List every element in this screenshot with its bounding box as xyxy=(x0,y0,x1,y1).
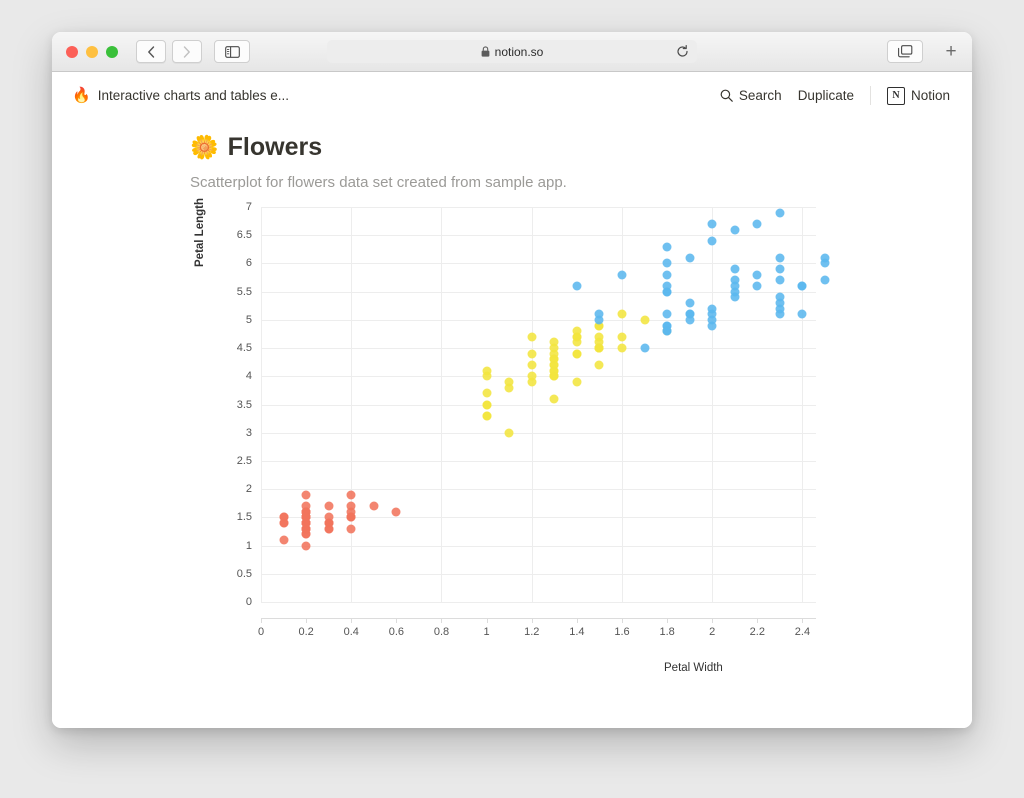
scatter-point[interactable] xyxy=(550,355,559,364)
scatter-point[interactable] xyxy=(482,389,491,398)
window-controls xyxy=(66,46,118,58)
scatter-point[interactable] xyxy=(775,265,784,274)
scatter-point[interactable] xyxy=(279,519,288,528)
x-axis-tick xyxy=(261,618,262,623)
x-axis-tick xyxy=(577,618,578,623)
gridline-horizontal xyxy=(261,489,816,490)
scatter-point[interactable] xyxy=(572,327,581,336)
x-axis-tick-label: 0.2 xyxy=(298,626,313,638)
gridline-horizontal xyxy=(261,348,816,349)
scatter-point[interactable] xyxy=(505,383,514,392)
scatter-point[interactable] xyxy=(753,270,762,279)
scatter-point[interactable] xyxy=(775,293,784,302)
gridline-horizontal xyxy=(261,461,816,462)
scatter-point[interactable] xyxy=(550,394,559,403)
gridline-vertical xyxy=(261,207,262,602)
scatter-point[interactable] xyxy=(775,304,784,313)
y-axis-tick-label: 2 xyxy=(212,483,252,495)
scatterplot-chart: Petal Length 00.20.40.60.811.21.41.61.82… xyxy=(190,207,830,677)
scatter-point[interactable] xyxy=(708,219,717,228)
back-button[interactable] xyxy=(136,40,166,63)
scatter-point[interactable] xyxy=(798,282,807,291)
x-axis-title: Petal Width xyxy=(664,662,723,674)
y-axis-tick-label: 2.5 xyxy=(212,455,252,467)
y-axis-tick-label: 0.5 xyxy=(212,568,252,580)
scatter-point[interactable] xyxy=(302,519,311,528)
scatter-point[interactable] xyxy=(708,321,717,330)
scatter-point[interactable] xyxy=(324,502,333,511)
plot-area xyxy=(261,207,816,602)
gridline-horizontal xyxy=(261,320,816,321)
scatter-point[interactable] xyxy=(595,332,604,341)
scatter-point[interactable] xyxy=(279,535,288,544)
scatter-point[interactable] xyxy=(753,282,762,291)
gridline-vertical xyxy=(802,207,803,602)
scatter-point[interactable] xyxy=(663,270,672,279)
lock-icon xyxy=(481,46,490,57)
scatter-point[interactable] xyxy=(572,338,581,347)
x-axis-tick-label: 1.6 xyxy=(614,626,629,638)
chevron-left-icon xyxy=(147,46,155,58)
page-content: 🌼 Flowers Scatterplot for flowers data s… xyxy=(52,133,972,677)
maximize-window-button[interactable] xyxy=(106,46,118,58)
search-icon xyxy=(720,89,733,102)
scatter-point[interactable] xyxy=(302,490,311,499)
scatter-point[interactable] xyxy=(347,490,356,499)
minimize-window-button[interactable] xyxy=(86,46,98,58)
gridline-vertical xyxy=(441,207,442,602)
page-emoji-icon: 🔥 xyxy=(72,88,91,103)
scatter-point[interactable] xyxy=(775,276,784,285)
scatter-point[interactable] xyxy=(708,304,717,313)
y-axis-tick-label: 3 xyxy=(212,427,252,439)
gridline-vertical xyxy=(351,207,352,602)
y-axis-tick-label: 5 xyxy=(212,314,252,326)
y-axis-title: Petal Length xyxy=(194,198,206,267)
y-axis-tick-label: 1.5 xyxy=(212,511,252,523)
scatter-point[interactable] xyxy=(708,236,717,245)
x-axis-tick xyxy=(802,618,803,623)
x-axis-tick-label: 0 xyxy=(258,626,264,638)
scatter-point[interactable] xyxy=(347,513,356,522)
scatter-point[interactable] xyxy=(617,332,626,341)
y-axis-tick-label: 7 xyxy=(212,201,252,213)
gridline-horizontal xyxy=(261,602,816,603)
browser-titlebar: notion.so + xyxy=(52,32,972,72)
search-label: Search xyxy=(739,88,782,103)
x-axis-tick xyxy=(712,618,713,623)
x-axis-tick-label: 2 xyxy=(709,626,715,638)
browser-window: notion.so + 🔥 Interactive charts and tab… xyxy=(52,32,972,728)
x-axis-tick-label: 2.4 xyxy=(795,626,810,638)
scatter-point[interactable] xyxy=(595,344,604,353)
scatter-point[interactable] xyxy=(663,310,672,319)
x-axis-tick xyxy=(667,618,668,623)
x-axis-tick xyxy=(757,618,758,623)
scatter-point[interactable] xyxy=(550,366,559,375)
scatter-point[interactable] xyxy=(685,298,694,307)
gridline-vertical xyxy=(712,207,713,602)
notion-topbar: 🔥 Interactive charts and tables e... Sea… xyxy=(52,72,972,119)
scatter-point[interactable] xyxy=(617,270,626,279)
x-axis-tick-label: 1.8 xyxy=(659,626,674,638)
url-text: notion.so xyxy=(495,45,544,59)
page-title: 🌼 Flowers xyxy=(190,133,972,162)
x-axis-tick xyxy=(487,618,488,623)
show-tabs-icon xyxy=(898,45,913,58)
x-axis-tick-label: 0.8 xyxy=(434,626,449,638)
x-axis-tick xyxy=(351,618,352,623)
scatter-point[interactable] xyxy=(505,428,514,437)
scatter-point[interactable] xyxy=(324,519,333,528)
x-axis-tick xyxy=(441,618,442,623)
toolbar-divider xyxy=(870,86,871,105)
scatter-point[interactable] xyxy=(753,219,762,228)
x-axis-tick xyxy=(622,618,623,623)
close-window-button[interactable] xyxy=(66,46,78,58)
scatter-point[interactable] xyxy=(798,310,807,319)
scatter-point[interactable] xyxy=(347,524,356,533)
scatter-point[interactable] xyxy=(730,225,739,234)
scatter-point[interactable] xyxy=(369,502,378,511)
scatter-point[interactable] xyxy=(527,349,536,358)
search-button[interactable]: Search xyxy=(720,88,782,103)
scatter-point[interactable] xyxy=(775,208,784,217)
scatter-point[interactable] xyxy=(527,332,536,341)
y-axis-tick-label: 6.5 xyxy=(212,229,252,241)
x-axis-line xyxy=(261,618,816,619)
gridline-vertical xyxy=(622,207,623,602)
scatter-point[interactable] xyxy=(572,282,581,291)
x-axis-tick-label: 0.4 xyxy=(344,626,359,638)
x-axis-tick-label: 2.2 xyxy=(750,626,765,638)
gridline-horizontal xyxy=(261,235,816,236)
x-axis-tick-label: 1 xyxy=(484,626,490,638)
sidebar-toggle-icon xyxy=(225,46,240,58)
x-axis-tick xyxy=(396,618,397,623)
gridline-horizontal xyxy=(261,546,816,547)
scatter-point[interactable] xyxy=(482,400,491,409)
flower-icon: 🌼 xyxy=(190,134,219,161)
scatter-point[interactable] xyxy=(527,361,536,370)
scatter-point[interactable] xyxy=(775,253,784,262)
y-axis-tick-label: 4.5 xyxy=(212,342,252,354)
gridline-horizontal xyxy=(261,376,816,377)
breadcrumb-page-name: Interactive charts and tables e... xyxy=(98,88,289,103)
notion-page: 🔥 Interactive charts and tables e... Sea… xyxy=(52,72,972,728)
reload-icon xyxy=(676,45,689,58)
duplicate-label: Duplicate xyxy=(798,88,854,103)
scatter-point[interactable] xyxy=(663,327,672,336)
scatter-point[interactable] xyxy=(392,507,401,516)
x-axis-tick xyxy=(532,618,533,623)
y-axis-tick-label: 0 xyxy=(212,596,252,608)
gridline-horizontal xyxy=(261,433,816,434)
scatter-point[interactable] xyxy=(640,315,649,324)
scatter-point[interactable] xyxy=(821,276,830,285)
scatter-point[interactable] xyxy=(572,377,581,386)
scatter-point[interactable] xyxy=(663,287,672,296)
scatter-point[interactable] xyxy=(821,253,830,262)
scatter-point[interactable] xyxy=(617,344,626,353)
forward-button[interactable] xyxy=(172,40,202,63)
y-axis-tick-label: 4 xyxy=(212,370,252,382)
scatter-point[interactable] xyxy=(663,259,672,268)
scatter-point[interactable] xyxy=(482,366,491,375)
scatter-point[interactable] xyxy=(617,310,626,319)
scatter-point[interactable] xyxy=(595,310,604,319)
notion-logo-icon: N xyxy=(887,87,905,105)
scatter-point[interactable] xyxy=(302,541,311,550)
notion-topbar-actions: Search Duplicate N Notion xyxy=(720,86,950,105)
address-bar[interactable]: notion.so xyxy=(327,40,697,63)
chevron-right-icon xyxy=(183,46,191,58)
gridline-horizontal xyxy=(261,207,816,208)
x-axis-tick-label: 1.2 xyxy=(524,626,539,638)
page-subtitle: Scatterplot for flowers data set created… xyxy=(190,174,972,191)
scatter-point[interactable] xyxy=(730,293,739,302)
navigation-buttons xyxy=(136,40,202,63)
x-axis-tick-label: 0.6 xyxy=(389,626,404,638)
scatter-point[interactable] xyxy=(730,282,739,291)
gridline-horizontal xyxy=(261,405,816,406)
new-tab-button[interactable]: + xyxy=(938,39,964,65)
scatter-point[interactable] xyxy=(550,338,559,347)
scatter-point[interactable] xyxy=(685,315,694,324)
gridline-horizontal xyxy=(261,517,816,518)
notion-brand-button[interactable]: N Notion xyxy=(887,87,950,105)
scatter-point[interactable] xyxy=(482,411,491,420)
scatter-point[interactable] xyxy=(527,372,536,381)
x-axis-tick xyxy=(306,618,307,623)
y-axis-tick-label: 3.5 xyxy=(212,399,252,411)
gridline-horizontal xyxy=(261,574,816,575)
scatter-point[interactable] xyxy=(572,349,581,358)
scatter-point[interactable] xyxy=(663,242,672,251)
scatter-point[interactable] xyxy=(685,253,694,262)
y-axis-tick-label: 6 xyxy=(212,257,252,269)
scatter-point[interactable] xyxy=(640,344,649,353)
notion-brand-label: Notion xyxy=(911,88,950,103)
y-axis-tick-label: 1 xyxy=(212,540,252,552)
show-tab-overview-button[interactable] xyxy=(887,40,923,63)
scatter-point[interactable] xyxy=(595,361,604,370)
breadcrumb[interactable]: 🔥 Interactive charts and tables e... xyxy=(72,88,720,103)
gridline-vertical xyxy=(532,207,533,602)
page-title-text: Flowers xyxy=(228,133,322,162)
sidebar-toggle-button[interactable] xyxy=(214,40,250,63)
reload-button[interactable] xyxy=(674,43,690,59)
duplicate-button[interactable]: Duplicate xyxy=(798,88,854,103)
scatter-point[interactable] xyxy=(730,265,739,274)
x-axis-tick-label: 1.4 xyxy=(569,626,584,638)
y-axis-tick-label: 5.5 xyxy=(212,286,252,298)
